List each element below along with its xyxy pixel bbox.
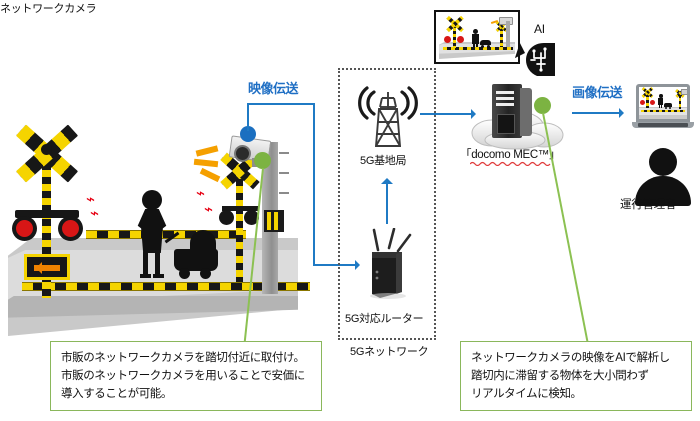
laptop-keyboard [638,123,688,127]
pedestrian-leg-left [143,252,148,276]
stroller-wheel-right [200,268,211,279]
ai-label: AI [534,22,545,36]
ai-callout-line-1: ネットワークカメラの映像をAIで解析し [471,350,681,368]
image-transfer-arrowhead [619,108,629,118]
ai-bubble-thumbnail [439,15,515,59]
mini-signal-left [444,20,466,48]
router-label: 5G対応ルーター [345,310,423,326]
ai-callout-line-2: 踏切内に滞留する物体を大小問わず [471,368,681,386]
mec-server-icon [492,84,536,142]
camera-flash-ray-1 [196,145,219,156]
stroller-wheel-left [179,268,190,279]
server-side-panel [520,88,532,136]
video-transfer-line-up [247,103,249,131]
camera-callout-line-2: 市販のネットワークカメラを用いることで安価に [61,368,311,386]
operator-head [649,148,677,176]
video-transfer-label: 映像伝送 [248,78,298,97]
video-transfer-line-top [247,103,315,105]
video-transfer-line-down [313,103,315,266]
spark-left2: ⌁ [90,206,99,221]
spark-right: ⌁ [196,186,205,201]
direction-arrow-sign [24,254,70,280]
camera-flash-ray-2 [194,159,218,167]
mini-stroller [480,39,491,48]
router-icon [358,228,420,300]
pole-mark-3 [279,192,289,194]
signal-lamp-small-left [219,210,234,225]
camera-callout-line-1: 市販のネットワークカメラを踏切付近に取付け。 [61,350,311,368]
mini-pedestrian [472,29,479,47]
cell-tower-icon [352,78,424,150]
stroller-body [174,249,218,271]
router-to-tower-line [386,182,388,224]
signal-post-small [236,172,243,282]
railroad-crossing-scene: ⌁ ⌁ ⌁ ⌁ ネットワークカメラ [0,0,330,340]
mec-label: 「docomo MEC™」 [460,146,560,162]
camera-callout-anchor-dot [254,152,271,169]
pedestrian-foot-right [153,274,164,278]
laptop-screen [636,84,690,122]
ai-callout-line-3: リアルタイムに検知。 [471,386,681,404]
signal-lamp-right [58,216,83,241]
router-to-tower-arrowhead [381,172,393,184]
5g-network-label: 5Gネットワーク [350,343,428,359]
crossbuck-center [41,144,52,155]
pedestrian-body [135,209,169,253]
pole-equipment-box [264,210,284,232]
mec-label-wrap: 「docomo MEC™」 [460,146,560,166]
railroad-crossing-signal [10,138,120,298]
signal-lamp-left [12,216,37,241]
network-camera-label: ネットワークカメラ [0,0,330,16]
ai-callout: ネットワークカメラの映像をAIで解析し 踏切内に滞留する物体を大小問わず リアル… [460,341,692,411]
server-vent [497,114,515,134]
pedestrian-leg-right [155,252,160,276]
mini-pole [506,21,510,47]
ai-analysis-bubble [434,10,520,64]
image-transfer-label: 画像伝送 [572,82,622,101]
pedestrian-head [142,190,162,210]
base-station-label: 5G基地局 [360,152,406,168]
tower-to-mec-line [420,113,472,115]
pedestrian-foot-left [140,274,151,278]
mec-callout-anchor-dot [534,97,551,114]
ai-brain-icon [521,40,557,78]
laptop-icon [632,84,694,136]
laptop-display-content [639,87,687,119]
server-tower [492,84,522,138]
spark-right2: ⌁ [204,202,213,217]
pole-mark-2 [279,172,289,174]
camera-callout: 市販のネットワークカメラを踏切付近に取付け。 市販のネットワークカメラを用いるこ… [50,341,322,411]
image-transfer-line [572,112,620,114]
camera-callout-line-3: 導入することが可能。 [61,386,311,404]
operator-label: 運行管理者 [620,196,676,212]
